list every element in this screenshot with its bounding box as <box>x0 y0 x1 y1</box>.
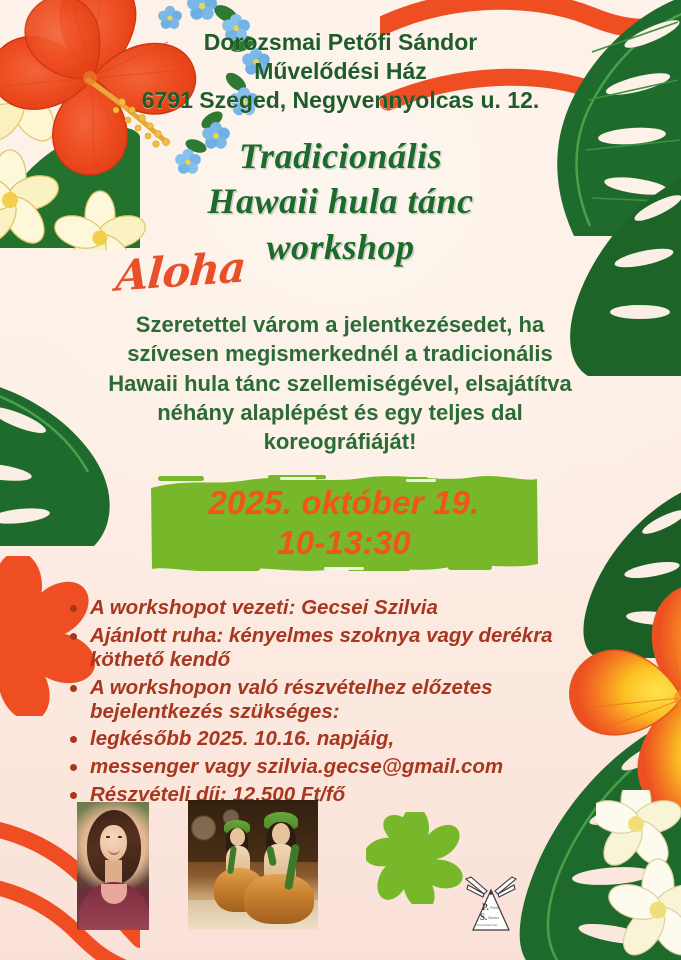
list-item: Ajánlott ruha: kényelmes szoknya vagy de… <box>62 624 582 672</box>
date-banner-text: 2025. október 19. 10-13:30 <box>148 474 540 572</box>
logo-label-3: művelődési ház <box>476 923 498 927</box>
list-item: A workshopot vezeti: Gecsei Szilvia <box>62 596 582 620</box>
logo-initial-1: P. <box>482 902 489 912</box>
venue-line-1: Dorozsmai Petőfi Sándor <box>0 28 681 57</box>
venue-line-2: Művelődési Ház <box>0 57 681 86</box>
instructor-portrait-photo <box>77 802 149 930</box>
dancer-head <box>272 823 290 845</box>
venue-address: 6791 Szeged, Negyvennyolcas u. 12. <box>0 86 681 115</box>
title-line-2: Hawaii hula tánc <box>0 179 681 224</box>
dancer-head <box>230 828 245 846</box>
event-time: 10-13:30 <box>277 523 411 563</box>
details-list: A workshopot vezeti: Gecsei Szilvia Aján… <box>62 596 582 811</box>
list-item: A workshopon való részvételhez előzetes … <box>62 676 582 724</box>
venue-block: Dorozsmai Petőfi Sándor Művelődési Ház 6… <box>0 28 681 115</box>
portrait-neck <box>105 860 122 884</box>
date-banner: 2025. október 19. 10-13:30 <box>148 474 540 572</box>
hula-dancers-photo <box>188 800 318 930</box>
intro-paragraph: Szeretettel várom a jelentkezésedet, ha … <box>90 310 590 456</box>
portrait-face <box>100 825 127 861</box>
aloha-script-text: Aloha <box>115 246 247 297</box>
list-item: messenger vagy szilvia.gecse@gmail.com <box>62 755 582 779</box>
poster-canvas: Dorozsmai Petőfi Sándor Művelődési Ház 6… <box>0 0 681 960</box>
dancer-skirt <box>244 874 314 924</box>
list-item: legkésőbb 2025. 10.16. napjáig, <box>62 727 582 751</box>
windmill-logo: P. Petőfi S. Sándor művelődési ház <box>462 876 520 938</box>
event-date: 2025. október 19. <box>208 483 479 523</box>
title-line-1: Tradicionális <box>0 134 681 179</box>
plumeria-flowers-icon <box>596 790 681 960</box>
page-title: Tradicionális Hawaii hula tánc workshop <box>0 134 681 270</box>
logo-initial-2: S. <box>480 912 487 922</box>
green-flower-shape-icon <box>366 812 464 904</box>
title-line-3: workshop <box>0 225 681 270</box>
logo-label-1: Petőfi <box>490 906 499 910</box>
logo-label-2: Sándor <box>488 916 500 920</box>
